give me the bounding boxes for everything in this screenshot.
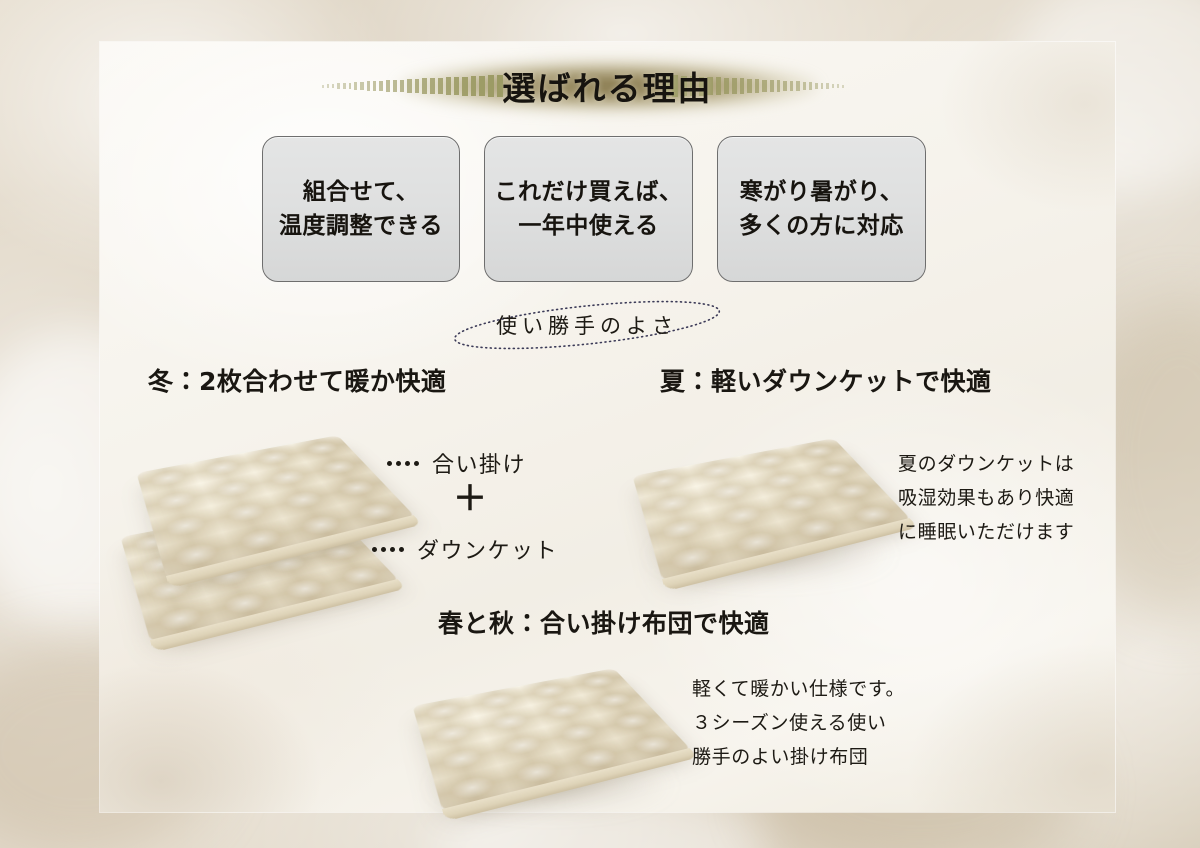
reason-box-3-line2: 多くの方に対応: [739, 213, 904, 238]
duvet-upper: [150, 411, 386, 577]
infographic-page: 選ばれる理由 組合せて、温度調整できる これだけ買えば、一年中使える 寒がり暑が…: [0, 0, 1200, 848]
reason-box-1-line1: 組合せて、: [303, 179, 419, 204]
page-title: 選ばれる理由: [100, 62, 1115, 110]
reason-box-1: 組合せて、温度調整できる: [262, 136, 460, 282]
reason-box-2-line2: 一年中使える: [518, 213, 658, 238]
duvet-summer: [646, 414, 882, 580]
label-downket: ダウンケット: [372, 533, 558, 565]
label-aigake: 合い掛け: [387, 447, 526, 479]
reason-box-1-line2: 温度調整できる: [279, 213, 443, 238]
spring-duvet-illustration: [410, 638, 690, 818]
leader-dots-icon: [372, 547, 408, 552]
spring-autumn-body-text: 軽くて暖かい仕様です。 ３シーズン使える使い 勝手のよい掛け布団: [692, 673, 905, 774]
reason-box-group: 組合せて、温度調整できる これだけ買えば、一年中使える 寒がり暑がり、多くの方に…: [262, 136, 926, 282]
headline-band: 選ばれる理由: [100, 56, 1115, 116]
usability-caption: 使い勝手のよさ: [452, 303, 722, 347]
summer-heading: 夏：軽いダウンケットで快適: [660, 362, 992, 398]
reason-box-2-line1: これだけ買えば、: [495, 179, 683, 204]
reason-box-2: これだけ買えば、一年中使える: [484, 136, 693, 282]
reason-box-3: 寒がり暑がり、多くの方に対応: [717, 136, 926, 282]
summer-duvet-illustration: [630, 408, 910, 588]
label-aigake-text: 合い掛け: [432, 447, 526, 479]
reason-box-3-line1: 寒がり暑がり、: [740, 179, 904, 204]
plus-icon: ＋: [453, 482, 487, 516]
summer-body-text: 夏のダウンケットは 吸湿効果もあり快適 に睡眠いただけます: [898, 448, 1074, 549]
leader-dots-icon: [387, 461, 423, 466]
duvet-spring: [426, 644, 662, 810]
label-downket-text: ダウンケット: [417, 533, 558, 565]
spring-autumn-heading: 春と秋：合い掛け布団で快適: [438, 604, 770, 640]
usability-caption-label: 使い勝手のよさ: [452, 310, 722, 340]
winter-duvet-illustration: [120, 405, 410, 610]
winter-heading: 冬：2枚合わせて暖か快適: [148, 362, 446, 398]
